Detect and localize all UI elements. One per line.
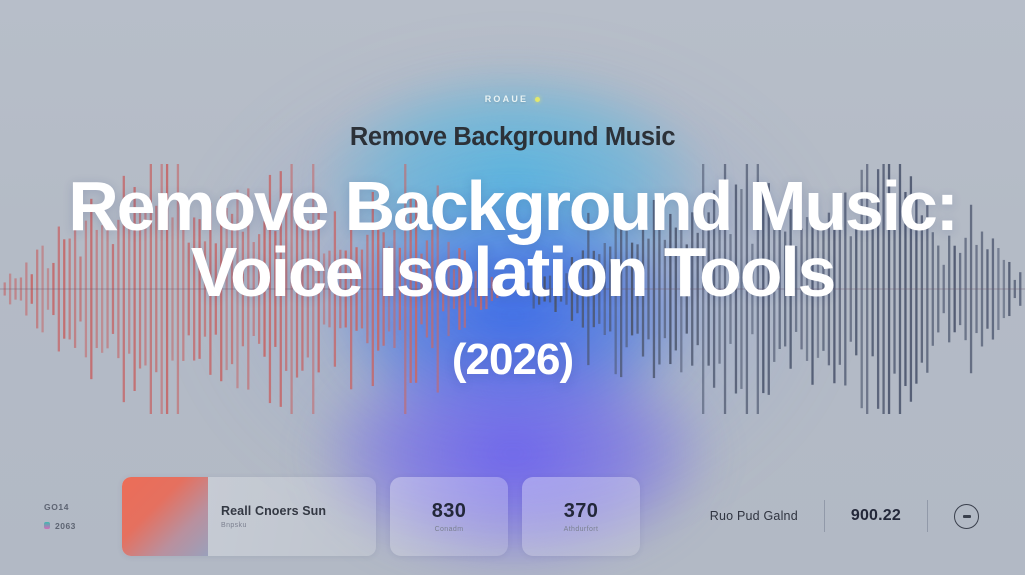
headline-line-2: Voice Isolation Tools bbox=[68, 240, 957, 304]
stat-value-1: 830 bbox=[432, 500, 467, 523]
meta-line-2: 2063 bbox=[44, 521, 122, 531]
divider bbox=[927, 500, 928, 532]
bottom-meta: GO14 2063 bbox=[44, 502, 122, 531]
meta-line-2-text: 2063 bbox=[55, 521, 76, 531]
bottom-right-group: Ruo Pud Galnd 900.22 bbox=[640, 500, 1025, 532]
stat-value-2: 370 bbox=[564, 500, 599, 523]
media-card-subtitle: Bnpsku bbox=[221, 522, 326, 529]
stat-caption-1: Conadm bbox=[435, 526, 464, 533]
eyebrow-text: ROAUE bbox=[485, 94, 529, 104]
eyebrow-label: ROAUE bbox=[485, 94, 541, 104]
yellow-dot-icon bbox=[535, 97, 540, 102]
bottom-bar: GO14 2063 Reall Cnoers Sun Bnpsku 830 Co… bbox=[0, 457, 1025, 575]
media-card-title: Reall Cnoers Sun bbox=[221, 504, 326, 518]
stat-card-2[interactable]: 370 Athdurfort bbox=[522, 477, 640, 556]
divider bbox=[824, 500, 825, 532]
media-thumbnail bbox=[122, 477, 208, 556]
meta-pip-icon bbox=[44, 522, 50, 529]
stat-card-1[interactable]: 830 Conadm bbox=[390, 477, 508, 556]
year-label: (2026) bbox=[452, 335, 573, 385]
circle-minus-icon[interactable] bbox=[954, 504, 979, 529]
headline-line-1: Remove Background Music: bbox=[68, 174, 957, 238]
stat-caption-2: Athdurfort bbox=[564, 526, 599, 533]
hero-banner: ROAUE Remove Background Music Remove Bac… bbox=[0, 0, 1025, 575]
media-card-text: Reall Cnoers Sun Bnpsku bbox=[208, 504, 326, 529]
minus-bar bbox=[963, 515, 971, 518]
meta-line-1: GO14 bbox=[44, 502, 122, 512]
subheading: Remove Background Music bbox=[350, 123, 675, 152]
media-card[interactable]: Reall Cnoers Sun Bnpsku bbox=[122, 477, 376, 556]
right-value: 900.22 bbox=[851, 507, 901, 525]
page-title: Remove Background Music: Voice Isolation… bbox=[68, 174, 957, 305]
right-label: Ruo Pud Galnd bbox=[710, 509, 798, 523]
